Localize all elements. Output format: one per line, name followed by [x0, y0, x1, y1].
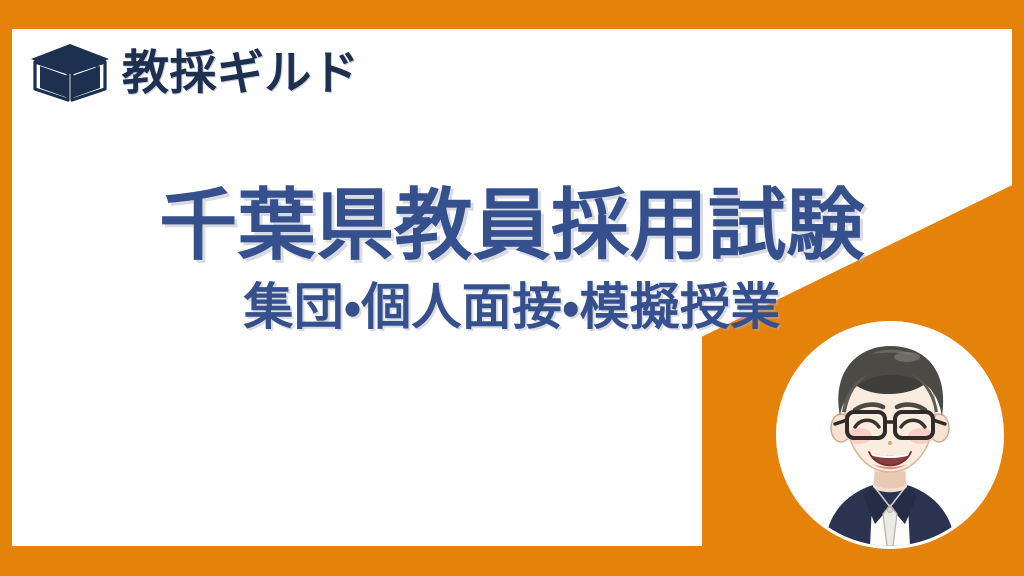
presenter-avatar	[779, 324, 1001, 546]
brand-name: 教採ギルド	[122, 50, 359, 97]
brand-logo[interactable]: 教採ギルド	[30, 38, 359, 108]
graduation-cap-book-icon	[30, 40, 112, 106]
slide-canvas: 教採ギルド 千葉県教員採用試験 集団・個人面接・模擬授業	[0, 0, 1024, 576]
presenter-avatar-icon	[779, 324, 1001, 546]
